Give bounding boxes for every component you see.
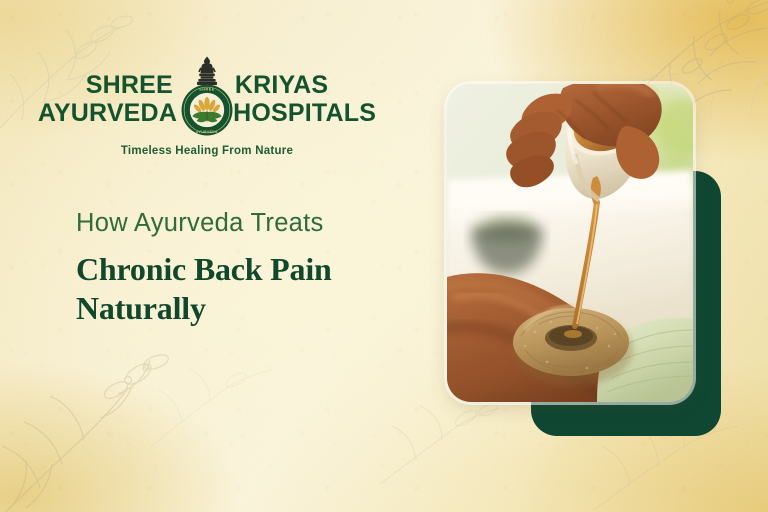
logo-words: SHREE KRIYAS AYURVEDA HOSPITALS bbox=[38, 72, 376, 126]
logo-line-2: AYURVEDA HOSPITALS bbox=[38, 100, 376, 127]
kati-basti-therapy-photo bbox=[447, 84, 693, 402]
logo-line-1: SHREE KRIYAS bbox=[86, 72, 329, 99]
botanical-decor-midleft-icon bbox=[140, 330, 290, 460]
therapy-photo-frame[interactable] bbox=[447, 84, 693, 402]
headline-kicker: How Ayurveda Treats bbox=[76, 208, 416, 238]
title-line-1: Chronic Back Pain bbox=[76, 251, 332, 287]
promo-banner: SHREE KRIYAS AYURVEDA HOSPITALS bbox=[0, 0, 768, 512]
logo-wordmark: SHREE KRIYAS AYURVEDA HOSPITALS bbox=[62, 58, 352, 140]
svg-text:AYURVEDA: AYURVEDA bbox=[196, 130, 218, 134]
logo-word-shree: SHREE bbox=[86, 72, 173, 99]
brand-tagline: Timeless Healing From Nature bbox=[121, 145, 293, 157]
headline-block: How Ayurveda Treats Chronic Back Pain Na… bbox=[76, 208, 416, 328]
logo-word-hospitals: HOSPITALS bbox=[233, 100, 376, 127]
logo-word-ayurveda: AYURVEDA bbox=[38, 100, 177, 127]
page-title: Chronic Back Pain Naturally bbox=[76, 250, 416, 328]
botanical-decor-bottom-left-icon bbox=[0, 340, 218, 512]
logo-word-kriyas: KRIYAS bbox=[235, 72, 328, 99]
brand-logo[interactable]: SHREE KRIYAS AYURVEDA HOSPITALS bbox=[62, 58, 352, 166]
title-line-2: Naturally bbox=[76, 289, 416, 328]
